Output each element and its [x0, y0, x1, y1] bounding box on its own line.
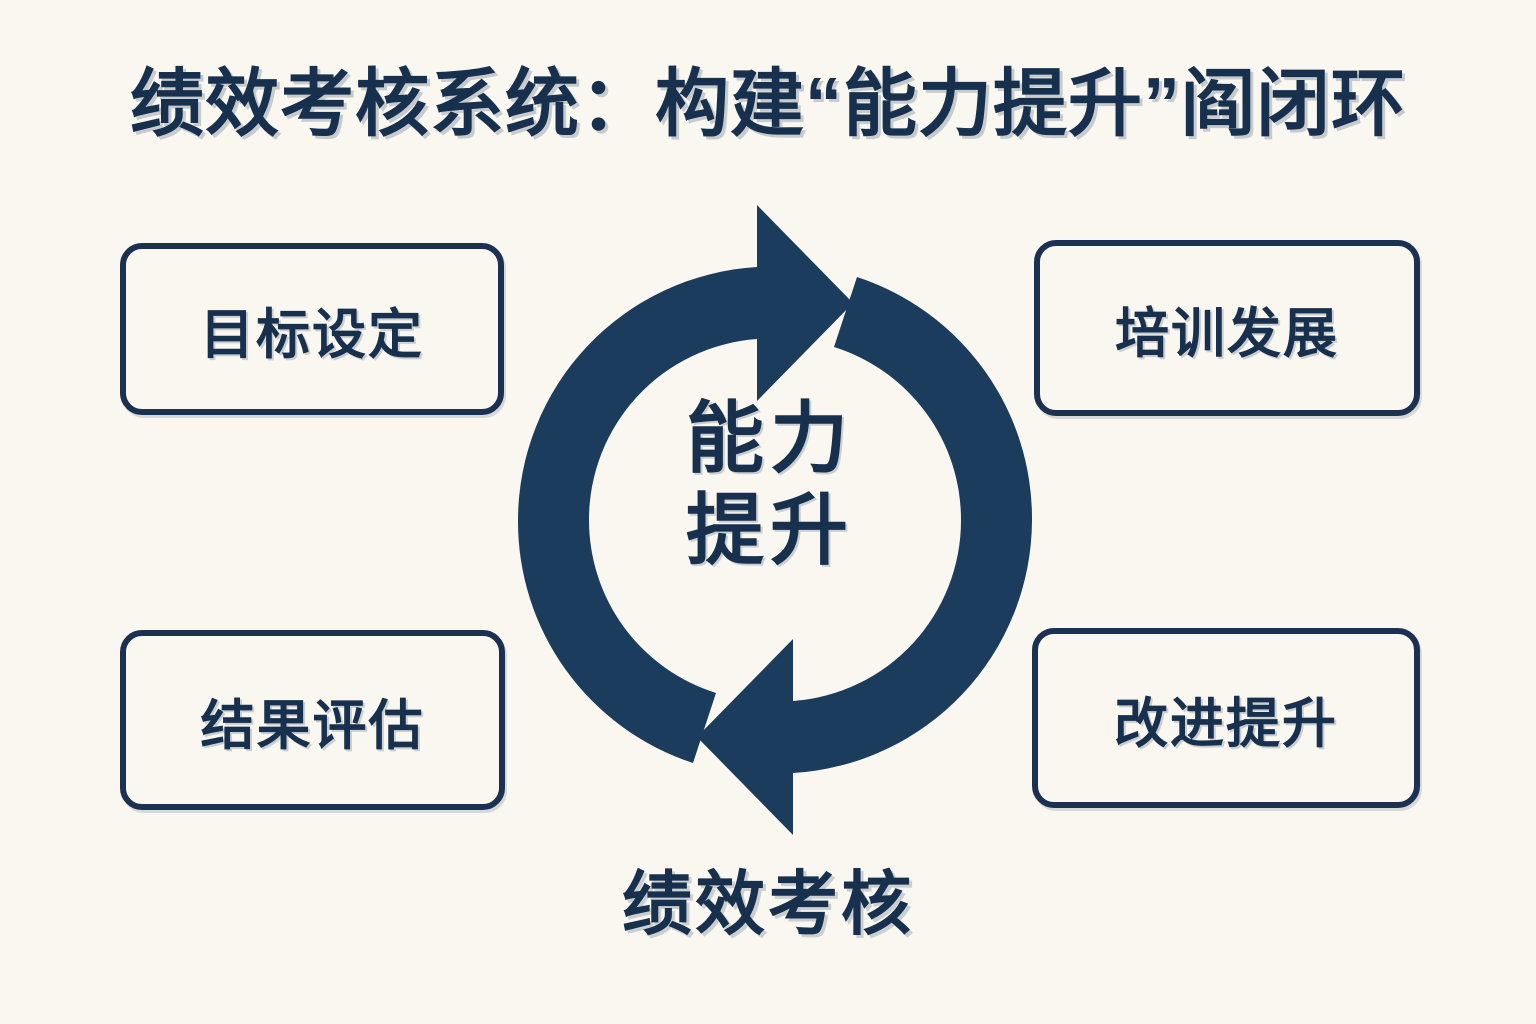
stage-box-goal-setting[interactable]: 目标设定 [120, 243, 504, 415]
stage-label-training-development: 培训发展 [1115, 289, 1339, 368]
stage-box-improvement[interactable]: 改进提升 [1032, 628, 1420, 808]
stage-label-result-evaluation: 结果评估 [201, 681, 425, 760]
cycle-center-label: 能力 提升 [570, 392, 970, 576]
page-title: 绩效考核系统：构建“能力提升”阎闭环 [0, 64, 1536, 144]
cycle-bottom-label: 绩效考核 [0, 848, 1536, 949]
diagram-canvas: 绩效考核系统：构建“能力提升”阎闭环 能力 提升 目标设定 培训发展 结果评估 … [0, 0, 1536, 1024]
stage-label-improvement: 改进提升 [1114, 679, 1338, 758]
stage-box-training-development[interactable]: 培训发展 [1034, 240, 1420, 416]
center-line-2: 提升 [570, 484, 970, 576]
center-line-1: 能力 [570, 392, 970, 484]
stage-label-goal-setting: 目标设定 [200, 290, 424, 369]
stage-box-result-evaluation[interactable]: 结果评估 [120, 630, 505, 810]
